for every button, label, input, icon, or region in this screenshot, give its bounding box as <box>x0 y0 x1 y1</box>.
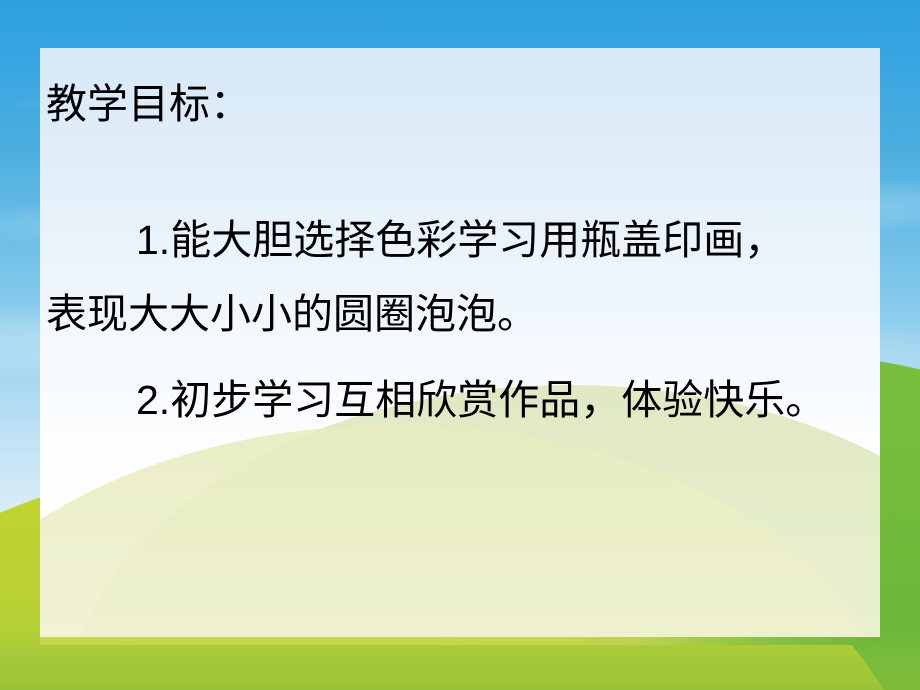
content-card: 教学目标： 1.能大胆选择色彩学习用瓶盖印画， 表现大大小小的圆圈泡泡。 2.初… <box>40 48 880 645</box>
objective-line-2: 2.初步学习互相欣赏作品，体验快乐。 <box>136 366 826 426</box>
page-title: 教学目标： <box>46 70 251 130</box>
slide-canvas: 教学目标： 1.能大胆选择色彩学习用瓶盖印画， 表现大大小小的圆圈泡泡。 2.初… <box>0 0 920 690</box>
objective-line-1-continued: 表现大大小小的圆圈泡泡。 <box>46 280 538 340</box>
slide-text-body: 教学目标： 1.能大胆选择色彩学习用瓶盖印画， 表现大大小小的圆圈泡泡。 2.初… <box>40 48 880 645</box>
objective-line-1: 1.能大胆选择色彩学习用瓶盖印画， <box>136 206 785 266</box>
